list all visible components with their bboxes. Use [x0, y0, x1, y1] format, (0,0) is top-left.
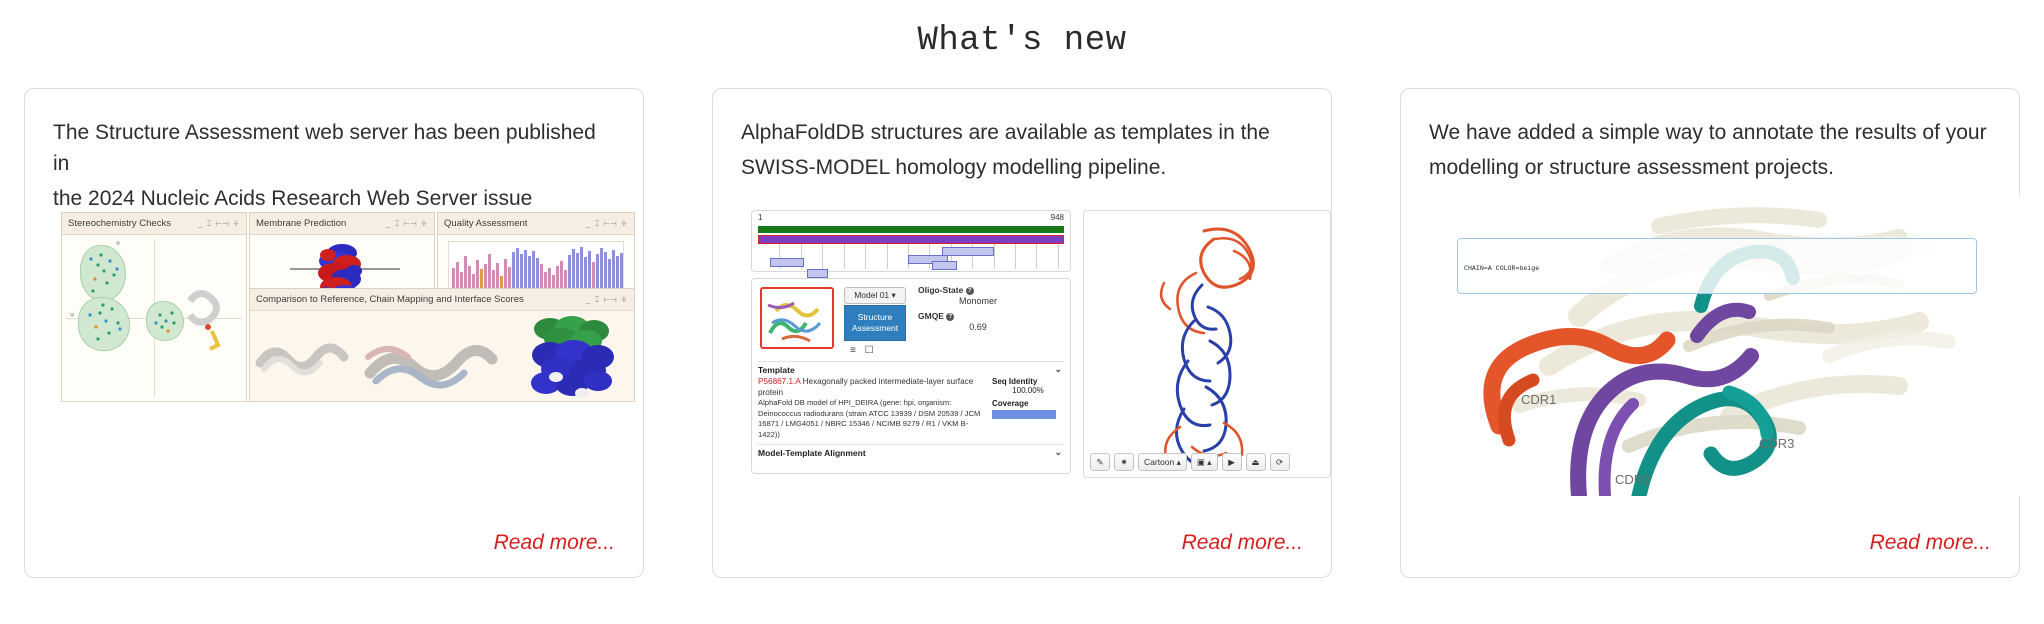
panel-comparison-to-reference: Comparison to Reference, Chain Mapping a… [249, 288, 635, 402]
page-title: What's new [0, 22, 2044, 60]
model-metadata: Oligo-State ? Monomer GMQE ? 0.69 [918, 285, 1038, 337]
whats-new-page: What's new The Structure Assessment web … [0, 0, 2044, 624]
template-section-header[interactable]: Template ⌄ [758, 361, 1064, 375]
template-header-label: Template [758, 365, 795, 375]
panel-title: Membrane Prediction [256, 218, 346, 229]
panel-title: Stereochemistry Checks [68, 218, 171, 229]
comparison-structure-render [250, 311, 634, 401]
viewer-toolbar[interactable]: ✎ ✷ Cartoon ▴ ▣ ▴ ▶ ⏏ ⟳ [1090, 453, 1290, 471]
card-2-screenshot: 1 948 [741, 204, 1303, 484]
play-icon[interactable]: ▶ [1222, 453, 1242, 471]
camera-icon[interactable]: ▣ ▴ [1191, 453, 1218, 471]
panel-body [250, 311, 634, 401]
card-3-text-line-2: modelling or structure assessment projec… [1429, 152, 1991, 183]
seq-identity-label: Seq Identity [992, 377, 1037, 386]
panel-window-controls-icon[interactable]: _ ⌶ ⊢⊣ ✛ [386, 219, 428, 229]
template-accession-link[interactable]: P56867.1.A [758, 377, 800, 386]
annotation-line-1: CHAIN=A COLOR=beige [1464, 264, 1970, 275]
panel-title: Comparison to Reference, Chain Mapping a… [256, 294, 524, 305]
oligo-state-label: Oligo-State [918, 285, 963, 295]
template-description: P56867.1.A Hexagonally packed intermedia… [758, 377, 986, 440]
model-thumbnail[interactable] [760, 287, 834, 349]
alignment-header-label: Model-Template Alignment [758, 448, 866, 458]
news-card-list: The Structure Assessment web server has … [0, 88, 2044, 578]
ramachandran-plot: Ψ Φ [62, 235, 246, 401]
gmqe-label: GMQE [918, 311, 944, 321]
help-icon[interactable]: ? [946, 313, 954, 321]
refresh-icon[interactable]: ⟳ [1270, 453, 1290, 471]
track-gridlines [758, 244, 1064, 269]
panel-stereochemistry-checks: Stereochemistry Checks _ ⌶ ⊢⊣ ✛ [61, 212, 247, 402]
qa-bar-plot [448, 241, 624, 293]
coverage-label: Coverage [992, 399, 1064, 408]
card-2-text-line-1: AlphaFoldDB structures are available as … [741, 117, 1303, 148]
pencil-icon[interactable]: ✎ [1090, 453, 1110, 471]
chevron-down-icon[interactable]: ⌄ [1054, 447, 1062, 458]
cdr2-label: CDR2 [1615, 472, 1650, 487]
annotation-code-box[interactable]: CHAIN=A COLOR=beige MOTIF={C...}{.{6,15}… [1457, 238, 1977, 294]
model-coverage-bar [758, 235, 1064, 244]
news-card-structure-assessment[interactable]: The Structure Assessment web server has … [24, 88, 644, 578]
card-2-text-line-2: SWISS-MODEL homology modelling pipeline. [741, 152, 1303, 183]
swissmodel-results-column: 1 948 [751, 210, 1071, 474]
eject-icon[interactable]: ⏏ [1246, 453, 1266, 471]
rama-axis-y-label: Ψ [70, 313, 74, 319]
oligo-state-value: Monomer [918, 295, 1038, 311]
news-card-annotation[interactable]: We have added a simple way to annotate t… [1400, 88, 2020, 578]
panel-body: Ψ Φ [62, 235, 246, 401]
panel-window-controls-icon[interactable]: _ ⌶ ⊢⊣ ✛ [586, 295, 628, 305]
gmqe-label-row: GMQE ? [918, 311, 1038, 321]
model-result-card: Model 01 ▾ Structure Assessment ≡ ☐ Olig… [751, 278, 1071, 474]
template-scores: Seq Identity 100.00% Coverage [992, 377, 1064, 440]
structure-viewer[interactable]: ✎ ✷ Cartoon ▴ ▣ ▴ ▶ ⏏ ⟳ [1083, 210, 1331, 478]
panel-header: Comparison to Reference, Chain Mapping a… [250, 289, 634, 311]
cdr3-label: CDR3 [1759, 436, 1794, 451]
panel-window-controls-icon[interactable]: _ ⌶ ⊢⊣ ✛ [198, 219, 240, 229]
card-1-screenshot: Stereochemistry Checks _ ⌶ ⊢⊣ ✛ [53, 204, 615, 484]
model-selector-button[interactable]: Model 01 ▾ [844, 287, 906, 304]
gear-icon[interactable]: ✷ [1114, 453, 1134, 471]
alignment-section-header[interactable]: Model-Template Alignment ⌄ [758, 444, 1064, 458]
seq-identity-value: 100.00% [992, 386, 1064, 395]
template-section: Template ⌄ P56867.1.A Hexagonally packed… [758, 361, 1064, 458]
news-card-alphafolddb-templates[interactable]: AlphaFoldDB structures are available as … [712, 88, 1332, 578]
card-1-text-line-1: The Structure Assessment web server has … [53, 117, 615, 179]
representation-dropdown[interactable]: Cartoon ▴ [1138, 453, 1187, 471]
coverage-bar [992, 410, 1056, 419]
track-start-label: 1 [758, 213, 762, 222]
cdr1-label: CDR1 [1521, 392, 1556, 407]
antibody-structure-render: CHAIN=A COLOR=beige MOTIF={C...}{.{6,15}… [1429, 196, 2029, 496]
panel-window-controls-icon[interactable]: _ ⌶ ⊢⊣ ✛ [586, 219, 628, 229]
panel-title: Quality Assessment [444, 218, 527, 229]
read-more-link-card-2[interactable]: Read more... [1182, 531, 1303, 555]
chevron-down-icon[interactable]: ⌄ [1054, 364, 1062, 375]
panel-header: Stereochemistry Checks _ ⌶ ⊢⊣ ✛ [62, 213, 246, 235]
model-action-icons[interactable]: ≡ ☐ [850, 345, 877, 356]
read-more-link-card-3[interactable]: Read more... [1870, 531, 1991, 555]
rama-axis-x-label: Φ [116, 241, 120, 247]
panel-header: Membrane Prediction _ ⌶ ⊢⊣ ✛ [250, 213, 434, 235]
card-3-text-line-1: We have added a simple way to annotate t… [1429, 117, 1991, 148]
help-icon[interactable]: ? [966, 287, 974, 295]
panel-header: Quality Assessment _ ⌶ ⊢⊣ ✛ [438, 213, 634, 235]
read-more-link-card-1[interactable]: Read more... [494, 531, 615, 555]
card-3-screenshot: CHAIN=A COLOR=beige MOTIF={C...}{.{6,15}… [1429, 204, 1991, 484]
template-alignment-track: 1 948 [751, 210, 1071, 272]
target-sequence-bar [758, 226, 1064, 233]
template-organism-desc: AlphaFold DB model of HPI_DEIRA (gene: h… [758, 398, 980, 439]
gmqe-value: 0.69 [918, 321, 1038, 337]
track-end-label: 948 [1051, 213, 1064, 222]
structure-assessment-button[interactable]: Structure Assessment [844, 305, 906, 341]
oligo-state-label-row: Oligo-State ? [918, 285, 1038, 295]
